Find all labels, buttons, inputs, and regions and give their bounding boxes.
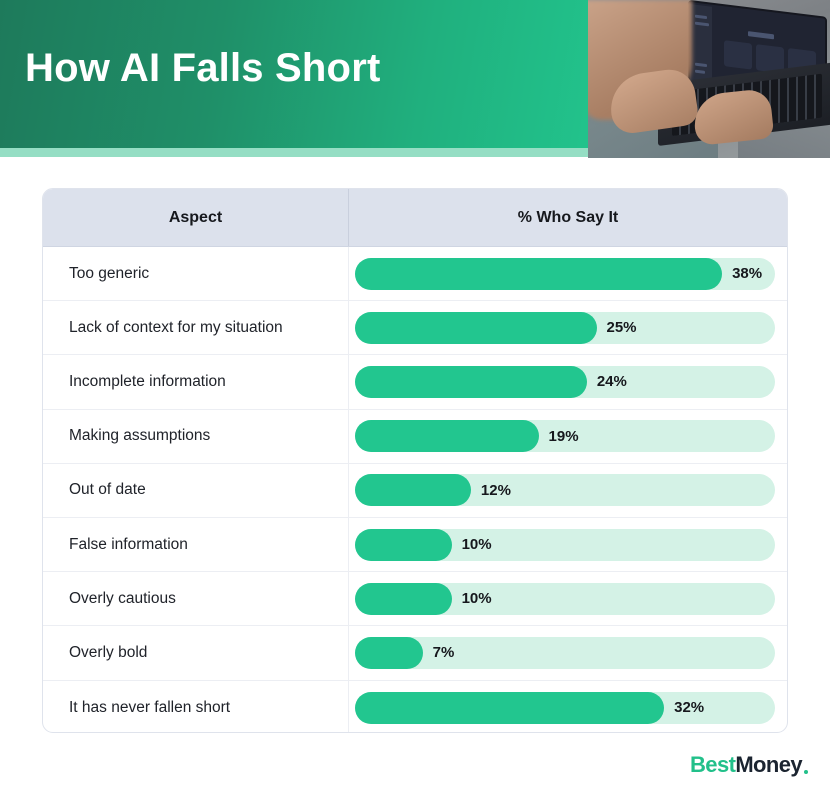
column-header-percent: % Who Say It xyxy=(349,189,787,246)
bar-value-label: 10% xyxy=(462,590,492,607)
page-title: How AI Falls Short xyxy=(25,46,380,91)
aspect-label: Too generic xyxy=(43,247,349,300)
bar-track: 24% xyxy=(355,366,775,398)
bar-track: 19% xyxy=(355,420,775,452)
table-row: Too generic38% xyxy=(43,247,787,301)
bar-cell: 10% xyxy=(349,518,787,571)
bar-cell: 7% xyxy=(349,626,787,679)
aspect-label: Incomplete information xyxy=(43,355,349,408)
bar-track: 25% xyxy=(355,312,775,344)
table-row: Incomplete information24% xyxy=(43,355,787,409)
aspect-label: Out of date xyxy=(43,464,349,517)
results-table: Aspect % Who Say It Too generic38%Lack o… xyxy=(42,188,788,733)
logo-dot-icon xyxy=(804,770,808,774)
bar-value-label: 19% xyxy=(549,428,579,445)
bar-value-label: 38% xyxy=(732,265,762,282)
laptop-photo xyxy=(588,0,830,158)
bar-track: 10% xyxy=(355,529,775,561)
bar-fill xyxy=(355,474,471,506)
bar-track: 10% xyxy=(355,583,775,615)
bar-cell: 38% xyxy=(349,247,787,300)
column-header-aspect: Aspect xyxy=(43,189,349,246)
bar-fill xyxy=(355,258,722,290)
table-row: Overly cautious10% xyxy=(43,572,787,626)
aspect-label: Overly cautious xyxy=(43,572,349,625)
bar-value-label: 24% xyxy=(597,373,627,390)
bar-cell: 19% xyxy=(349,410,787,463)
logo-best-text: Best xyxy=(690,752,735,778)
bar-cell: 25% xyxy=(349,301,787,354)
bestmoney-logo: Best Money xyxy=(690,752,808,778)
bar-cell: 10% xyxy=(349,572,787,625)
aspect-label: False information xyxy=(43,518,349,571)
aspect-label: Making assumptions xyxy=(43,410,349,463)
table-row: It has never fallen short32% xyxy=(43,681,787,734)
logo-money-text: Money xyxy=(735,752,802,778)
bar-track: 12% xyxy=(355,474,775,506)
bar-fill xyxy=(355,312,597,344)
bar-fill xyxy=(355,366,587,398)
bar-fill xyxy=(355,637,423,669)
header-accent-strip xyxy=(0,148,604,157)
bar-value-label: 12% xyxy=(481,482,511,499)
table-body: Too generic38%Lack of context for my sit… xyxy=(43,247,787,733)
aspect-label: Overly bold xyxy=(43,626,349,679)
bar-track: 7% xyxy=(355,637,775,669)
bar-fill xyxy=(355,692,664,724)
bar-fill xyxy=(355,420,539,452)
bar-cell: 24% xyxy=(349,355,787,408)
table-row: Lack of context for my situation25% xyxy=(43,301,787,355)
bar-track: 38% xyxy=(355,258,775,290)
bar-fill xyxy=(355,583,452,615)
bar-fill xyxy=(355,529,452,561)
bar-track: 32% xyxy=(355,692,775,724)
table-header-row: Aspect % Who Say It xyxy=(43,189,787,247)
bar-value-label: 10% xyxy=(462,536,492,553)
aspect-label: Lack of context for my situation xyxy=(43,301,349,354)
header-banner: How AI Falls Short xyxy=(0,0,830,165)
bar-value-label: 7% xyxy=(433,644,455,661)
bar-value-label: 25% xyxy=(607,319,637,336)
bar-cell: 32% xyxy=(349,681,787,734)
table-row: Making assumptions19% xyxy=(43,410,787,464)
table-row: False information10% xyxy=(43,518,787,572)
aspect-label: It has never fallen short xyxy=(43,681,349,734)
bar-cell: 12% xyxy=(349,464,787,517)
table-row: Overly bold7% xyxy=(43,626,787,680)
table-row: Out of date12% xyxy=(43,464,787,518)
bar-value-label: 32% xyxy=(674,699,704,716)
